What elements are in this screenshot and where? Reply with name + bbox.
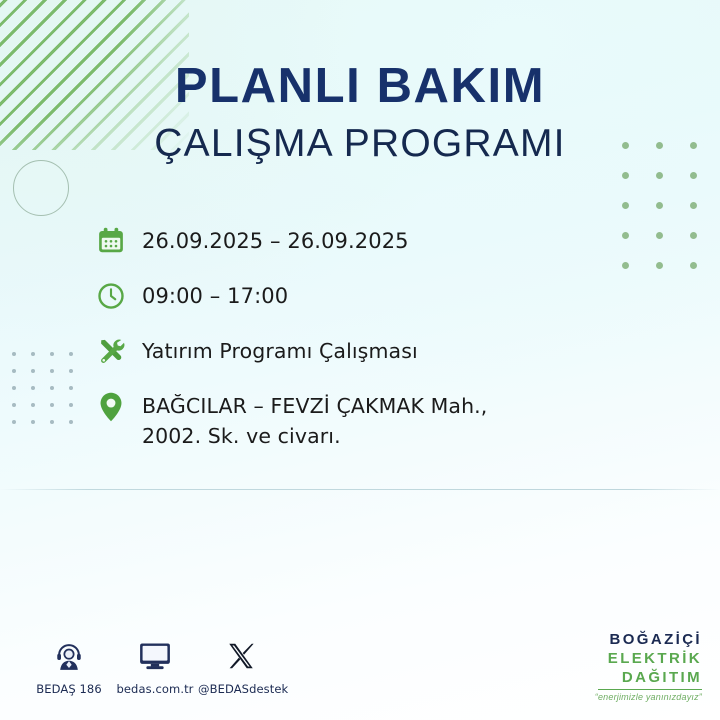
tools-icon [96,332,142,370]
dot-grid-decoration-right [622,142,720,292]
contact-website[interactable]: bedas.com.tr [112,636,198,696]
monitor-icon [112,636,198,676]
detail-row-work-type: Yatırım Programı Çalışması [96,332,636,370]
map-pin-icon [96,387,142,435]
detail-row-time: 09:00 – 17:00 [96,277,636,315]
page-title: PLANLI BAKIM [0,62,720,111]
brand-underline [598,689,702,690]
maintenance-location: BAĞCILAR – FEVZİ ÇAKMAK Mah., 2002. Sk. … [142,387,487,451]
maintenance-details: 26.09.2025 – 26.09.2025 09:00 – 17:00 Ya… [96,222,636,451]
poster-footer: BEDAŞ 186 bedas.com.tr [0,628,720,720]
contact-phone-label: BEDAŞ 186 [26,682,112,696]
planned-maintenance-poster: PLANLI BAKIM ÇALIŞMA PROGRAMI 26.09 [0,0,720,720]
maintenance-time: 09:00 – 17:00 [142,277,288,312]
contact-social[interactable]: @BEDASdestek [198,636,284,696]
contact-social-label: @BEDASdestek [198,682,284,696]
clock-icon [96,277,142,315]
section-divider [0,489,720,490]
location-line-2: 2002. Sk. ve civarı. [142,424,341,448]
brand-line-3: DAĞITIM [595,670,702,685]
detail-row-location: BAĞCILAR – FEVZİ ÇAKMAK Mah., 2002. Sk. … [96,387,636,451]
brand-line-1: BOĞAZİÇİ [595,632,702,647]
headset-support-icon [26,636,112,676]
maintenance-work-type: Yatırım Programı Çalışması [142,332,418,366]
x-social-icon [198,636,284,676]
poster-header: PLANLI BAKIM ÇALIŞMA PROGRAMI [0,62,720,163]
contact-phone[interactable]: BEDAŞ 186 [26,636,112,696]
detail-row-date: 26.09.2025 – 26.09.2025 [96,222,636,260]
company-logo: BOĞAZİÇİ ELEKTRİK DAĞITIM “enerjimizle y… [595,632,702,702]
page-subtitle: ÇALIŞMA PROGRAMI [0,124,720,163]
maintenance-date: 26.09.2025 – 26.09.2025 [142,222,409,257]
contact-website-label: bedas.com.tr [112,682,198,696]
calendar-icon [96,222,142,260]
brand-line-2: ELEKTRİK [595,651,702,666]
dot-grid-decoration-left [12,352,88,437]
brand-tagline: “enerjimizle yanınızdayız” [595,693,702,702]
contact-channels: BEDAŞ 186 bedas.com.tr [26,636,284,696]
circle-outline-decoration [13,160,69,216]
location-line-1: BAĞCILAR – FEVZİ ÇAKMAK Mah., [142,394,487,418]
